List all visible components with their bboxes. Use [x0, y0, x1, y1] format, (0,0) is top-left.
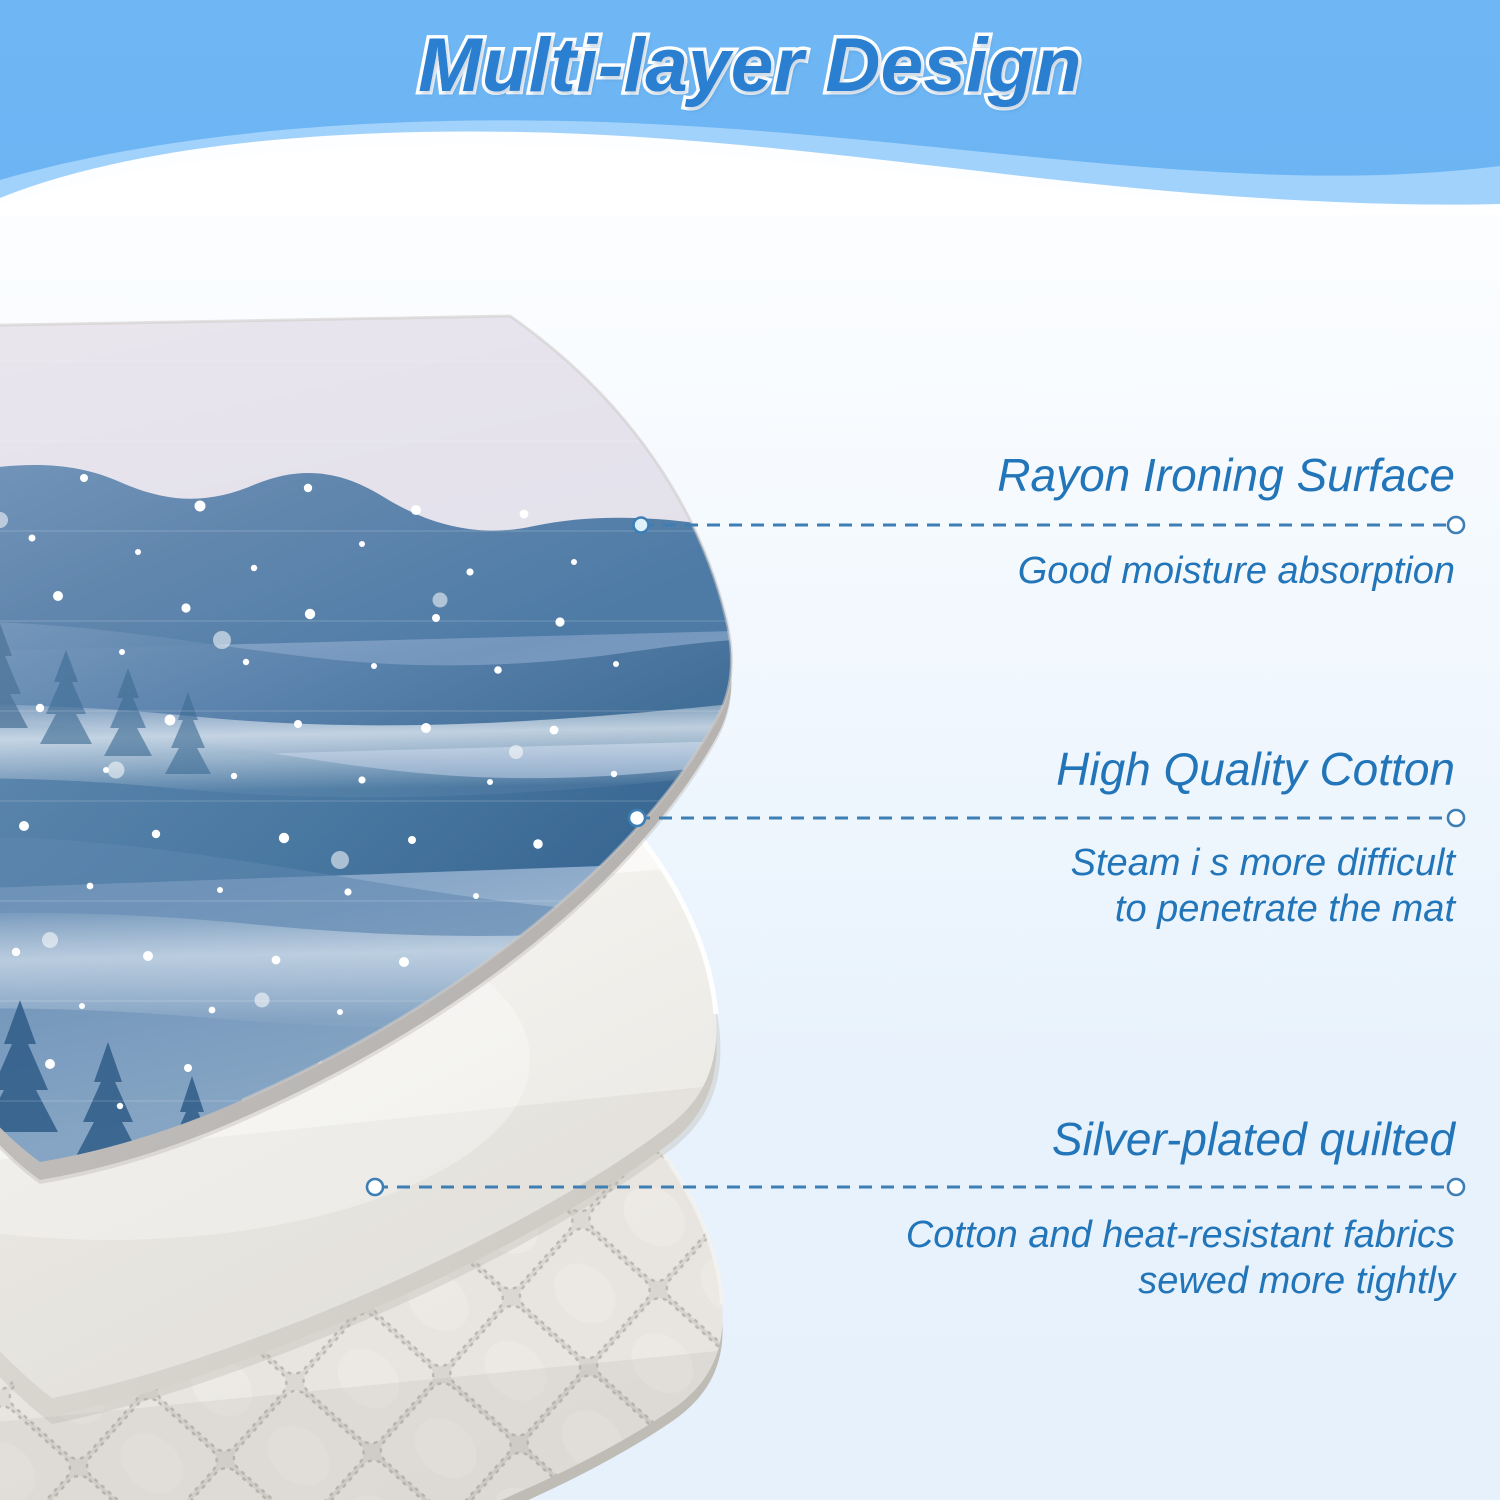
- callout-title-quilted: Silver-plated quilted: [1052, 1112, 1455, 1166]
- callout-subtitle-cotton: Steam i s more difficult to penetrate th…: [1071, 840, 1455, 933]
- header-band: Multi-layer Design Multi-layer Design: [0, 0, 1500, 215]
- callout-subtitle-quilted: Cotton and heat-resistant fabrics sewed …: [906, 1212, 1455, 1305]
- product-layers-graphic: [0, 300, 870, 1500]
- infographic-page: Multi-layer Design Multi-layer Design: [0, 0, 1500, 1500]
- callout-subtitle-line: sewed more tightly: [906, 1258, 1455, 1304]
- callout-title-cotton: High Quality Cotton: [1056, 742, 1455, 796]
- callout-subtitle-line: Steam i s more difficult: [1071, 840, 1455, 886]
- callout-title-rayon: Rayon Ironing Surface: [997, 448, 1455, 502]
- product-layer-stack: [0, 300, 870, 1500]
- callout-subtitle-line: Good moisture absorption: [1018, 548, 1455, 594]
- callout-subtitle-line: Cotton and heat-resistant fabrics: [906, 1212, 1455, 1258]
- callout-subtitle-rayon: Good moisture absorption: [1018, 548, 1455, 594]
- callout-subtitle-line: to penetrate the mat: [1071, 886, 1455, 932]
- header-wave-graphic: [0, 0, 1500, 215]
